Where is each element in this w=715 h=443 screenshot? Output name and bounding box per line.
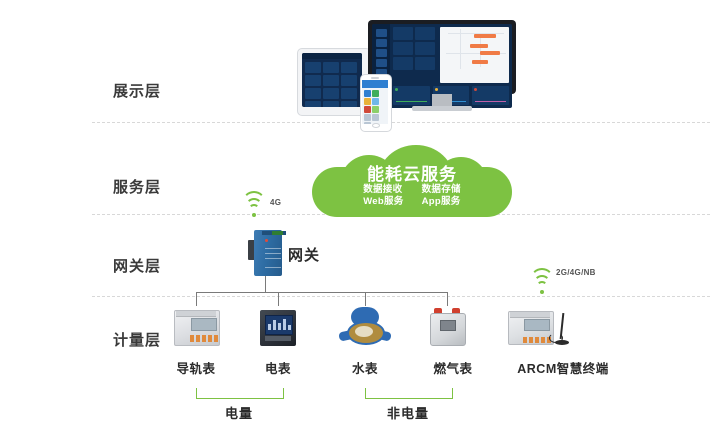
terminal-network-tag: 2G/4G/NB — [556, 268, 596, 277]
antenna-icon — [549, 313, 567, 345]
phone-screen — [362, 80, 388, 124]
phone-app-grid — [362, 88, 388, 124]
gateway-network-tag: 4G — [270, 198, 281, 207]
meter-label-gas: 燃气表 — [417, 358, 489, 377]
phone-speaker — [371, 77, 379, 79]
meter-bus-line — [196, 292, 448, 293]
layer-label-metering: 计量层 — [113, 329, 161, 350]
gateway-device — [248, 230, 282, 276]
bracket-label-electric: 电量 — [196, 403, 282, 422]
layer-label-presentation: 展示层 — [113, 80, 161, 101]
monitor-map-panel — [440, 27, 509, 83]
layer-label-service: 服务层 — [113, 176, 161, 197]
arcm-terminal-device — [508, 311, 566, 345]
cloud-item-data-storage: 数据存储 — [422, 184, 461, 196]
layer-label-gateway: 网关层 — [113, 255, 161, 276]
bracket-electric — [196, 388, 284, 399]
gateway-drop-line — [265, 276, 266, 292]
terminal-label: ARCM智慧终端 — [505, 358, 621, 377]
tablet-screen-grid — [302, 59, 362, 107]
meter-label-din-rail: 导轨表 — [166, 358, 226, 377]
cloud-column-right: 数据存储 App服务 — [422, 184, 461, 208]
monitor-stand-base — [412, 106, 472, 111]
cloud-item-data-receive: 数据接收 — [363, 184, 403, 196]
electric-meter-device — [260, 310, 296, 346]
wifi-signal-icon-terminal — [531, 277, 553, 295]
gateway-body — [254, 230, 282, 276]
wifi-signal-icon-gateway — [243, 200, 265, 218]
cloud-subitems: 数据接收 Web服务 数据存储 App服务 — [312, 184, 512, 208]
cloud-item-web-service: Web服务 — [363, 196, 403, 208]
branch-line-gas — [447, 292, 448, 306]
meter-label-electric: 电表 — [248, 358, 308, 377]
water-meter-device — [339, 307, 391, 347]
cloud-item-app-service: App服务 — [422, 196, 461, 208]
cloud-service: 能耗云服务 数据接收 Web服务 数据存储 App服务 — [312, 145, 512, 217]
gas-meter-device — [430, 308, 464, 344]
gateway-label: 网关 — [288, 244, 320, 265]
branch-line-din — [196, 292, 197, 306]
meter-label-water: 水表 — [335, 358, 395, 377]
cloud-title: 能耗云服务 — [312, 160, 512, 185]
branch-line-electric — [278, 292, 279, 306]
phone-app-header — [362, 80, 388, 88]
layer-separator-1 — [92, 122, 710, 123]
tablet-screen — [302, 53, 362, 107]
layer-separator-3 — [92, 296, 710, 297]
monitor-stat-cards — [393, 27, 437, 83]
monitor-stand-neck — [432, 94, 452, 106]
bracket-non-electric — [365, 388, 453, 399]
cloud-column-left: 数据接收 Web服务 — [363, 184, 403, 208]
smartphone-device — [360, 74, 390, 130]
tablet-device — [297, 48, 369, 114]
phone-home-button — [372, 123, 380, 128]
bracket-label-non-electric: 非电量 — [365, 403, 451, 422]
architecture-diagram: 展示层 服务层 网关层 计量层 — [0, 0, 715, 443]
din-rail-meter-device — [174, 310, 218, 344]
branch-line-water — [365, 292, 366, 306]
